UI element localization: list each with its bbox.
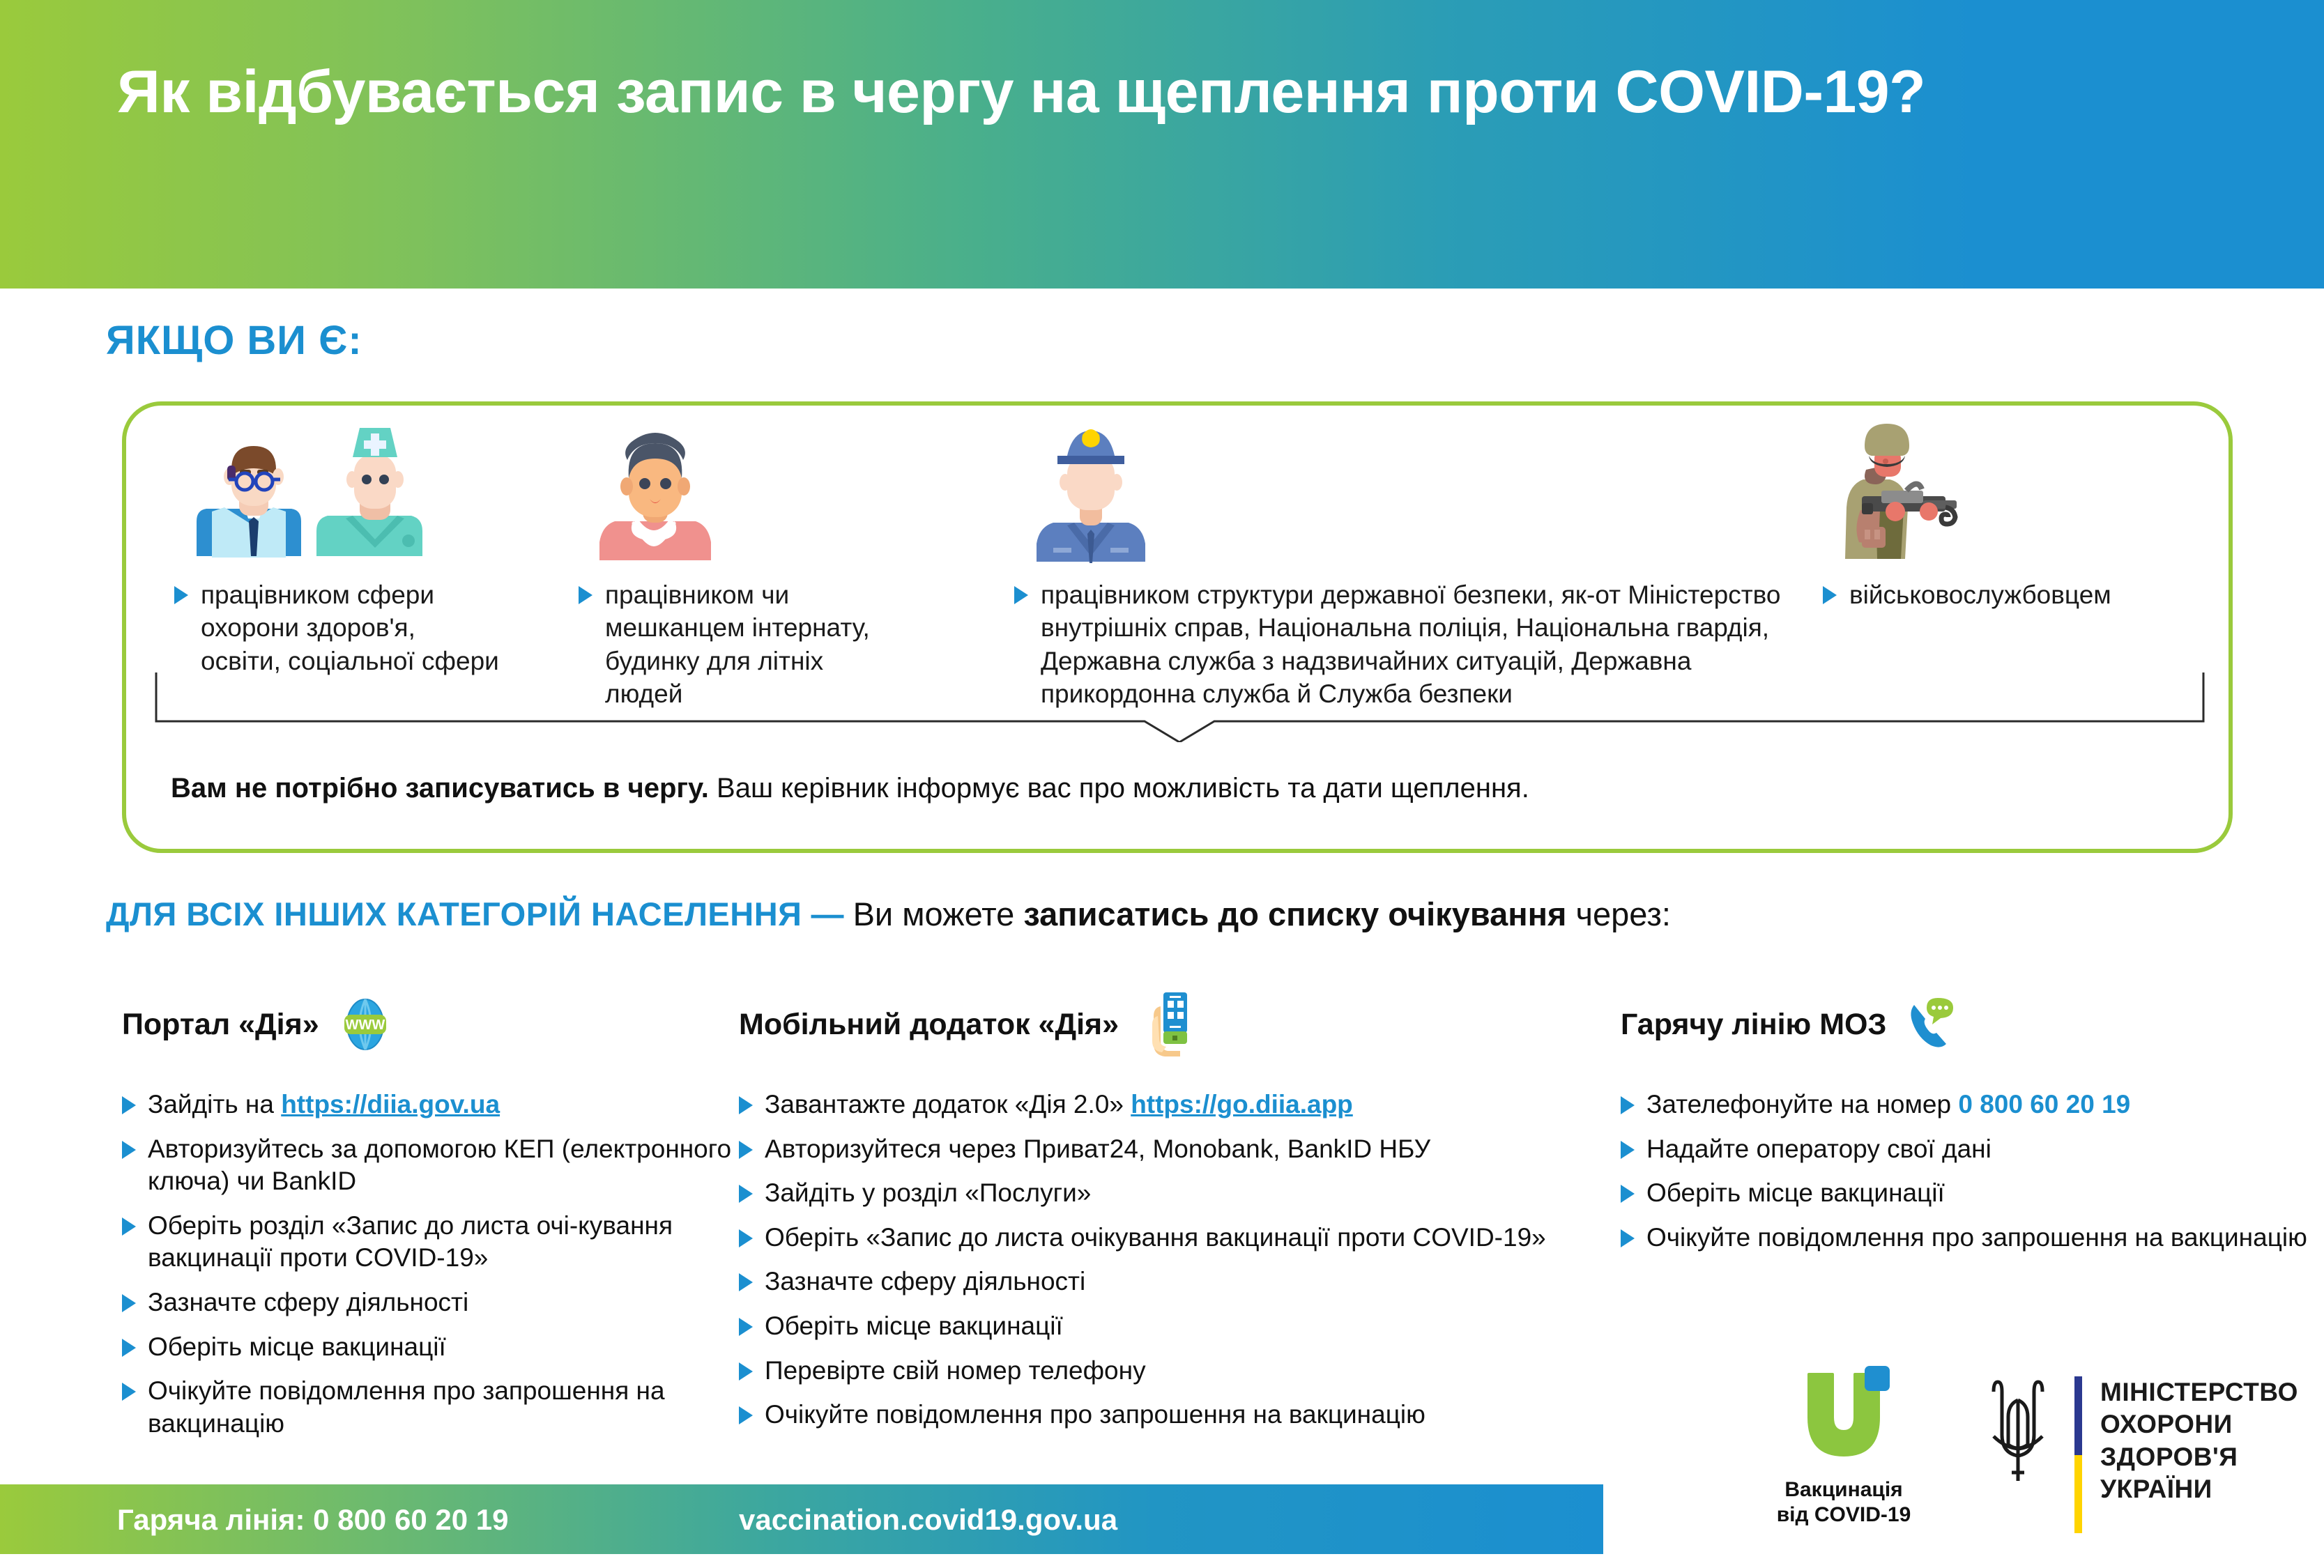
soldier-icon xyxy=(1823,418,2185,578)
bullet-arrow-icon xyxy=(739,1096,753,1114)
headline-dash: — xyxy=(811,896,844,932)
step-text: Авторизуйтеся через Приват24, Monobank, … xyxy=(765,1133,1430,1166)
list-item: Зайдіть у розділ «Послуги» xyxy=(739,1177,1561,1210)
list-item: Оберіть місце вакцинації xyxy=(739,1310,1561,1343)
svg-text:WWW: WWW xyxy=(345,1017,385,1033)
step-text: Оберіть розділ «Запис до листа очі-куван… xyxy=(148,1210,749,1275)
elderly-woman-icon xyxy=(579,418,906,578)
step-text: Оберіть місце вакцинації xyxy=(765,1310,1063,1343)
hotline-number[interactable]: 0 800 60 20 19 xyxy=(1958,1090,2130,1119)
step-text: Оберіть місце вакцинації xyxy=(148,1331,446,1364)
ministry-name: МІНІСТЕРСТВО ОХОРОНИ ЗДОРОВ'Я УКРАЇНИ xyxy=(2100,1376,2298,1505)
channel-portal: Портал «Дія» WWW Зайдіть на https://diia… xyxy=(122,990,749,1452)
bullet-arrow-icon xyxy=(122,1096,136,1114)
category-text-row: працівником структури державної безпеки,… xyxy=(1014,578,1781,710)
list-item: Оберіть розділ «Запис до листа очі-куван… xyxy=(122,1210,749,1275)
list-item: Очікуйте повідомлення про запрошення на … xyxy=(739,1399,1561,1431)
step-text: Очікуйте повідомлення про запрошення на … xyxy=(148,1375,749,1440)
bullet-arrow-icon xyxy=(1621,1229,1635,1247)
bullet-arrow-icon xyxy=(739,1406,753,1424)
diia-app-link[interactable]: https://go.diia.app xyxy=(1131,1090,1353,1119)
category-text-row: військовослужбовцем xyxy=(1823,578,2185,611)
bullet-arrow-icon xyxy=(739,1273,753,1291)
bullet-arrow-icon xyxy=(739,1185,753,1203)
notice-bold: Вам не потрібно записуватись в чергу. xyxy=(171,773,709,804)
step-text: Зазначте сферу діяльності xyxy=(148,1286,468,1319)
vaccination-logo: Вакцинація від COVID-19 xyxy=(1757,1366,1931,1528)
flag-divider xyxy=(2074,1376,2082,1533)
bullet-arrow-icon xyxy=(174,586,188,604)
vaccination-caption-line2: від COVID-19 xyxy=(1757,1502,1931,1528)
step-text: Зазначте сферу діяльності xyxy=(765,1266,1085,1298)
ministry-line-3: ЗДОРОВ'Я xyxy=(2100,1441,2298,1473)
infographic-page: Як відбувається запис в чергу на щепленн… xyxy=(0,0,2324,1568)
category-item-4: військовослужбовцем xyxy=(1823,418,2185,611)
footer-hotline: Гаряча лінія: 0 800 60 20 19 xyxy=(117,1503,508,1537)
step-text: Оберіть «Запис до листа очікування вакци… xyxy=(765,1222,1546,1254)
bullet-arrow-icon xyxy=(122,1217,136,1236)
category-item-2: працівником чи мешканцем інтернату, буди… xyxy=(579,418,906,710)
ministry-line-2: ОХОРОНИ xyxy=(2100,1408,2298,1440)
ministry-of-health-logo: МІНІСТЕРСТВО ОХОРОНИ ЗДОРОВ'Я УКРАЇНИ xyxy=(1980,1376,2298,1533)
headline-post: через: xyxy=(1566,896,1671,932)
step-text: Зайдіть на xyxy=(148,1090,281,1119)
office-worker-and-doctor-icon xyxy=(174,418,502,578)
list-item: Зазначте сферу діяльності xyxy=(122,1286,749,1319)
list-item: Оберіть місце вакцинації xyxy=(122,1331,749,1364)
channel-mobile-app: Мобільний додаток «Дія» Заванта xyxy=(739,990,1561,1443)
step-text: Зайдіть у розділ «Послуги» xyxy=(765,1177,1091,1210)
footer-website[interactable]: vaccination.covid19.gov.ua xyxy=(739,1503,1117,1537)
category-label-2: працівником чи мешканцем інтернату, буди… xyxy=(605,578,906,710)
ministry-line-4: УКРАЇНИ xyxy=(2100,1473,2298,1505)
page-title: Як відбувається запис в чергу на щепленн… xyxy=(117,57,2139,128)
header-banner: Як відбувається запис в чергу на щепленн… xyxy=(0,0,2324,289)
category-text-row: працівником сфери охорони здоров'я, осві… xyxy=(174,578,502,677)
bullet-arrow-icon xyxy=(122,1294,136,1312)
bullet-arrow-icon xyxy=(739,1141,753,1159)
list-item: Очікуйте повідомлення про запрошення на … xyxy=(122,1375,749,1440)
list-item: Зателефонуйте на номер 0 800 60 20 19 xyxy=(1621,1089,2318,1121)
step-text: Зателефонуйте на номер xyxy=(1646,1090,1958,1119)
headline-pre: Ви можете xyxy=(853,896,1024,932)
channel-steps-list: Зателефонуйте на номер 0 800 60 20 19 На… xyxy=(1621,1089,2318,1254)
list-item: Оберіть місце вакцинації xyxy=(1621,1177,2318,1210)
headline-blue-part: ДЛЯ ВСІХ ІНШИХ КАТЕГОРІЙ НАСЕЛЕННЯ xyxy=(106,896,802,932)
channel-header: Портал «Дія» WWW xyxy=(122,990,749,1059)
step-text: Авторизуйтесь за допомогою КЕП (електрон… xyxy=(148,1133,749,1198)
step-text: Завантажте додаток «Дія 2.0» xyxy=(765,1090,1131,1119)
globe-www-icon: WWW xyxy=(337,997,393,1052)
list-item: Оберіть «Запис до листа очікування вакци… xyxy=(739,1222,1561,1254)
bullet-arrow-icon xyxy=(122,1383,136,1401)
bullet-arrow-icon xyxy=(1014,586,1028,604)
bullet-arrow-icon xyxy=(1823,586,1837,604)
notice-rest: Ваш керівник інформує вас про можливість… xyxy=(709,773,1529,804)
bullet-arrow-icon xyxy=(579,586,593,604)
diia-portal-link[interactable]: https://diia.gov.ua xyxy=(281,1090,500,1119)
channel-steps-list: Завантажте додаток «Дія 2.0» https://go.… xyxy=(739,1089,1561,1431)
channel-steps-list: Зайдіть на https://diia.gov.ua Авторизуй… xyxy=(122,1089,749,1440)
channel-hotline: Гарячу лінію МОЗ Зателефонуйте на номер … xyxy=(1621,990,2318,1266)
bullet-arrow-icon xyxy=(739,1229,753,1247)
step-text: Очікуйте повідомлення про запрошення на … xyxy=(1646,1222,2307,1254)
phone-chat-icon xyxy=(1904,997,1964,1052)
step-text: Очікуйте повідомлення про запрошення на … xyxy=(765,1399,1425,1431)
section-if-you-are-label: ЯКЩО ВИ Є: xyxy=(106,317,362,364)
list-item: Зазначте сферу діяльності xyxy=(739,1266,1561,1298)
category-label-4: військовослужбовцем xyxy=(1849,578,2111,611)
step-text: Перевірте свій номер телефону xyxy=(765,1355,1146,1388)
list-item: Авторизуйтесь за допомогою КЕП (електрон… xyxy=(122,1133,749,1198)
category-label-1: працівником сфери охорони здоров'я, осві… xyxy=(201,578,502,677)
channel-title-hotline: Гарячу лінію МОЗ xyxy=(1621,1008,1886,1042)
list-item: Завантажте додаток «Дія 2.0» https://go.… xyxy=(739,1089,1561,1121)
notice-text: Вам не потрібно записуватись в чергу. Ва… xyxy=(171,770,2192,806)
channel-header: Гарячу лінію МОЗ xyxy=(1621,990,2318,1059)
police-officer-icon xyxy=(1014,418,1781,578)
list-item: Авторизуйтеся через Приват24, Monobank, … xyxy=(739,1133,1561,1166)
bullet-arrow-icon xyxy=(739,1362,753,1381)
channel-title-mobile: Мобільний додаток «Дія» xyxy=(739,1008,1119,1042)
bullet-arrow-icon xyxy=(1621,1096,1635,1114)
vaccination-logo-caption: Вакцинація від COVID-19 xyxy=(1757,1477,1931,1528)
list-item: Перевірте свій номер телефону xyxy=(739,1355,1561,1388)
category-item-3: працівником структури державної безпеки,… xyxy=(1014,418,1781,710)
all-other-categories-headline: ДЛЯ ВСІХ ІНШИХ КАТЕГОРІЙ НАСЕЛЕННЯ — Ви … xyxy=(106,896,2232,933)
bullet-arrow-icon xyxy=(122,1339,136,1357)
step-text: Оберіть місце вакцинації xyxy=(1646,1177,1945,1210)
category-label-3: працівником структури державної безпеки,… xyxy=(1041,578,1781,710)
headline-bold: записатись до списку очікування xyxy=(1023,896,1566,932)
bullet-arrow-icon xyxy=(1621,1185,1635,1203)
list-item: Надайте оператору свої дані xyxy=(1621,1133,2318,1166)
vaccination-caption-line1: Вакцинація xyxy=(1757,1477,1931,1502)
ministry-line-1: МІНІСТЕРСТВО xyxy=(2100,1376,2298,1408)
channel-title-portal: Портал «Дія» xyxy=(122,1008,319,1042)
category-item-1: працівником сфери охорони здоров'я, осві… xyxy=(174,418,502,677)
bullet-arrow-icon xyxy=(1621,1141,1635,1159)
hand-holding-phone-icon xyxy=(1137,991,1193,1058)
bullet-arrow-icon xyxy=(739,1318,753,1336)
list-item: Зайдіть на https://diia.gov.ua xyxy=(122,1089,749,1121)
channel-header: Мобільний додаток «Дія» xyxy=(739,990,1561,1059)
bullet-arrow-icon xyxy=(122,1141,136,1159)
list-item: Очікуйте повідомлення про запрошення на … xyxy=(1621,1222,2318,1254)
category-text-row: працівником чи мешканцем інтернату, буди… xyxy=(579,578,906,710)
ukraine-trident-icon xyxy=(1980,1376,2056,1488)
step-text: Надайте оператору свої дані xyxy=(1646,1133,1992,1166)
